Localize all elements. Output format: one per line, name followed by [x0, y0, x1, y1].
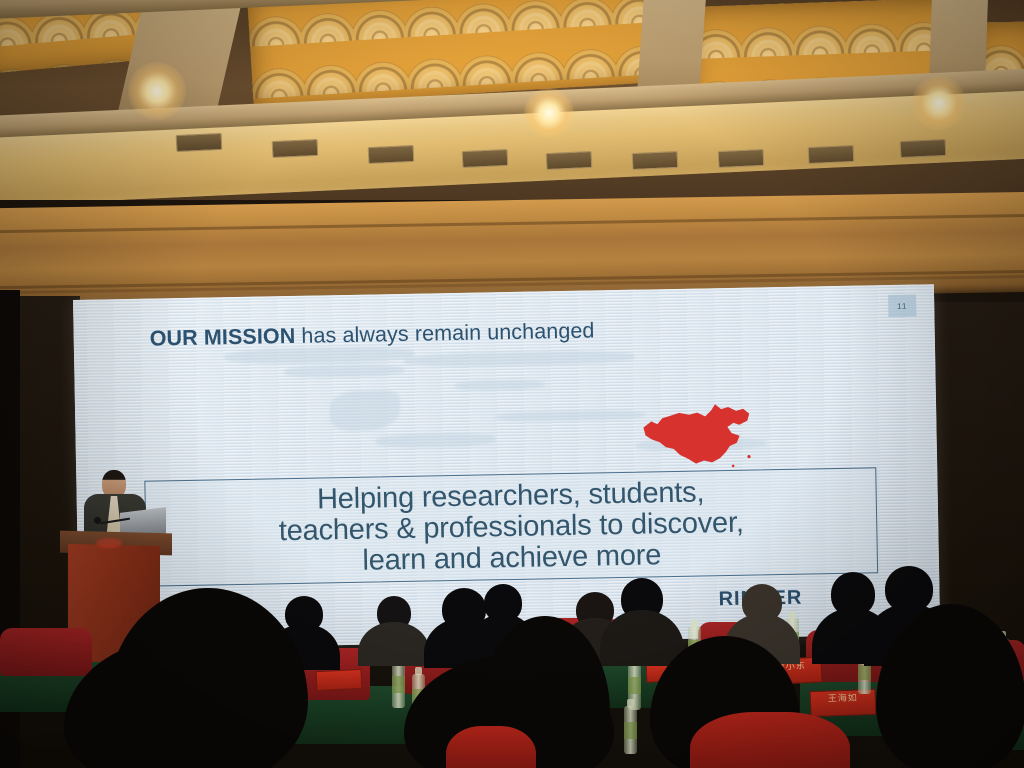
audience-shoulders	[358, 622, 430, 666]
name-placard	[316, 669, 363, 691]
mission-line: learn and achieve more	[362, 540, 661, 576]
audience-shoulders	[600, 610, 684, 666]
audience-member	[358, 596, 430, 666]
ceiling-vent-2	[272, 139, 319, 158]
world-map-watermark	[455, 379, 545, 391]
world-map-watermark	[404, 350, 634, 368]
slide-title-rest: has always remain unchanged	[295, 318, 595, 347]
ceiling-vent-3	[368, 145, 415, 164]
china-map-icon	[635, 399, 760, 473]
ceiling-vent-7	[718, 149, 765, 168]
slide-title: OUR MISSION has always remain unchanged	[150, 318, 595, 351]
world-map-watermark	[330, 390, 401, 431]
world-map-watermark	[495, 410, 645, 423]
slide-number-badge: 11	[888, 295, 916, 318]
water-bottle	[624, 706, 637, 754]
foreground-person-red-coat	[446, 726, 536, 768]
podium-emblem	[96, 538, 122, 548]
conference-photo-scene: OUR MISSION has always remain unchanged …	[0, 0, 1024, 768]
audience-member	[600, 578, 684, 666]
microphone-icon	[94, 517, 101, 524]
ceiling-vent-6	[632, 151, 679, 170]
ceiling-vent-4	[462, 149, 509, 168]
ceiling-vent-5	[546, 151, 593, 170]
water-bottle	[392, 660, 405, 708]
world-map-watermark	[284, 364, 404, 378]
ceiling-vent-9	[900, 139, 947, 158]
ceiling	[0, 0, 1024, 215]
mission-line: teachers & professionals to discover,	[279, 507, 744, 547]
world-map-watermark	[376, 432, 496, 448]
slide-title-bold: OUR MISSION	[150, 324, 296, 351]
foreground-person-red-coat	[690, 712, 850, 768]
mission-statement-box: Helping researchers, students, teachers …	[144, 467, 878, 586]
audience-chair	[0, 628, 92, 676]
ceiling-vent-1	[176, 133, 223, 152]
ceiling-vent-8	[808, 145, 855, 164]
